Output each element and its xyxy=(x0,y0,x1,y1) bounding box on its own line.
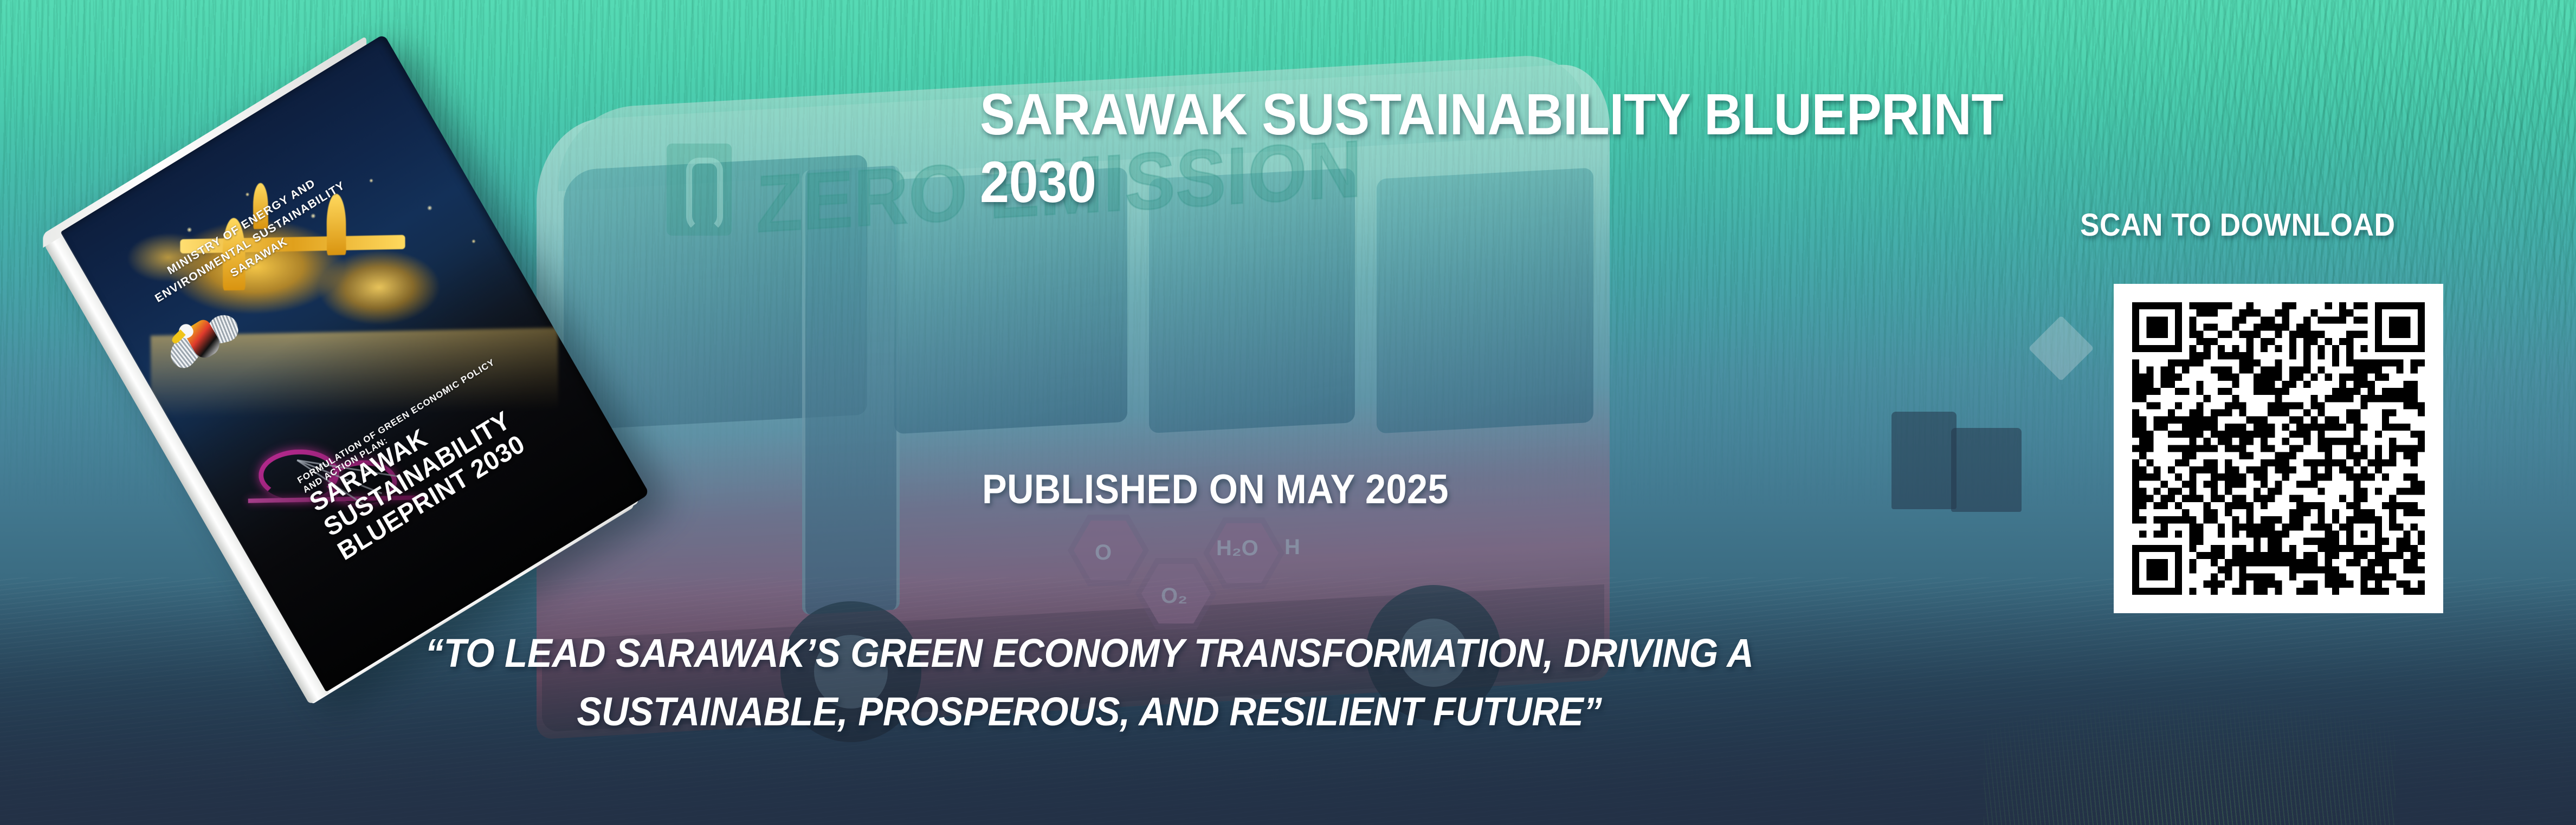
vision-quote-line-2: SUSTAINABLE, PROSPEROUS, AND RESILIENT F… xyxy=(76,683,2103,741)
page-title: SARAWAK SUSTAINABILITY BLUEPRINT 2030 xyxy=(980,80,2003,216)
background-bin-icon xyxy=(1891,412,1957,509)
vision-quote-line-1: “TO LEAD SARAWAK’S GREEN ECONOMY TRANSFO… xyxy=(76,624,2103,683)
cover-vignette xyxy=(60,34,649,692)
scan-to-download-label: SCAN TO DOWNLOAD xyxy=(2080,207,2395,243)
qr-code-image[interactable] xyxy=(2132,302,2425,595)
published-date: PUBLISHED ON MAY 2025 xyxy=(982,466,1449,513)
hex-label-o: O xyxy=(1095,541,1112,565)
book-front-cover: MINISTRY OF ENERGY AND ENVIRONMENTAL SUS… xyxy=(60,34,649,692)
hex-label-h2o: H₂O xyxy=(1216,536,1258,561)
sarawak-blueprint-banner: ZERO EMISSION H₂O O O₂ H xyxy=(0,0,2576,825)
book-rotation-wrapper: MINISTRY OF ENERGY AND ENVIRONMENTAL SUS… xyxy=(60,34,649,692)
hex-label-o2: O₂ xyxy=(1161,584,1187,608)
hex-label-h: H xyxy=(1284,535,1300,560)
qr-code-block[interactable] xyxy=(2114,284,2443,613)
vision-quote: “TO LEAD SARAWAK’S GREEN ECONOMY TRANSFO… xyxy=(0,624,2179,741)
background-bin-icon xyxy=(1951,428,2022,512)
blueprint-book-mockup: MINISTRY OF ENERGY AND ENVIRONMENTAL SUS… xyxy=(95,65,686,677)
